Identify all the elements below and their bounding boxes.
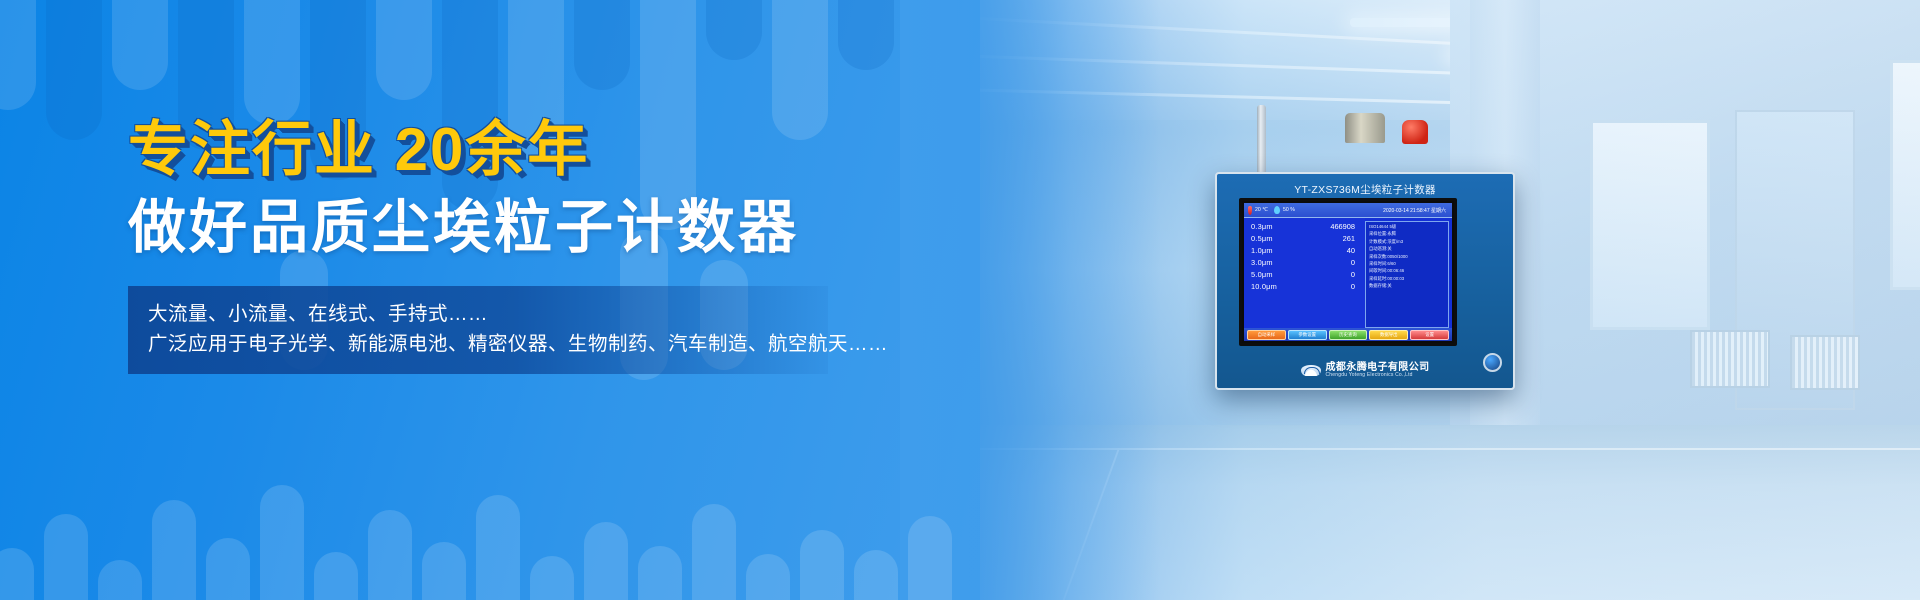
parameter-item: 采样次数:0050/1000 (1369, 254, 1445, 260)
water-drop-icon (1274, 206, 1280, 214)
table-row: 10.0μm 0 (1251, 282, 1361, 292)
history-query-button[interactable]: 历史查询 (1329, 330, 1368, 340)
data-export-button[interactable]: 数据导出 (1369, 330, 1408, 340)
particle-size: 0.5μm (1251, 234, 1297, 244)
particle-count: 40 (1297, 246, 1361, 256)
brand-name-en: Chengdu Yoteng Electronics Co.,Ltd (1326, 373, 1430, 379)
particle-size: 3.0μm (1251, 258, 1297, 268)
auto-sample-button[interactable]: 自动采样 (1247, 330, 1286, 340)
particle-size: 5.0μm (1251, 270, 1297, 280)
particle-size: 10.0μm (1251, 282, 1297, 292)
thermometer-icon (1248, 206, 1252, 215)
datetime-readout: 2020-03-14 21:58:47 星期六 (1383, 207, 1448, 214)
screen-button-row: 自动采样 参数设置 历史查询 数据导出 设置 (1244, 328, 1452, 341)
parameter-item: 数据存储:关 (1369, 283, 1445, 289)
table-row: 1.0μm 40 (1251, 246, 1361, 256)
decorative-bottom-bars (0, 460, 1000, 600)
particle-size: 1.0μm (1251, 246, 1297, 256)
device-branding: 成都永腾电子有限公司 Chengdu Yoteng Electronics Co… (1217, 362, 1513, 379)
parameter-setup-button[interactable]: 参数设置 (1288, 330, 1327, 340)
parameter-panel: ISO14644 5级 采样位置:永腾 计数模式:浓度/m3 自动巡测:关 采样… (1365, 221, 1449, 328)
parameter-item: ISO14644 5级 (1369, 224, 1445, 230)
humidity-readout: 50 % (1274, 206, 1295, 214)
humidity-value: 50 % (1283, 207, 1295, 213)
settings-button[interactable]: 设置 (1410, 330, 1449, 340)
particle-count: 0 (1297, 282, 1361, 292)
particle-count: 261 (1297, 234, 1361, 244)
particle-counter-device: YT-ZXS736M尘埃粒子计数器 20 ℃ 50 % 2020-03-14 2… (1215, 172, 1515, 390)
device-screen[interactable]: 20 ℃ 50 % 2020-03-14 21:58:47 星期六 0.3μm … (1239, 198, 1457, 346)
particle-count: 0 (1297, 270, 1361, 280)
device-model-label: YT-ZXS736M尘埃粒子计数器 (1217, 182, 1513, 197)
temperature-value: 20 ℃ (1255, 207, 1268, 213)
headline-primary: 专注行业 20余年 (128, 118, 888, 181)
parameter-item: 采样延时:00:00:03 (1369, 276, 1445, 282)
table-row: 5.0μm 0 (1251, 270, 1361, 280)
particle-size: 0.3μm (1251, 222, 1297, 232)
description-line-1: 大流量、小流量、在线式、手持式…… (148, 299, 828, 329)
parameter-item: 采样位置:永腾 (1369, 231, 1445, 237)
description-band: 大流量、小流量、在线式、手持式…… 广泛应用于电子光学、新能源电池、精密仪器、生… (128, 286, 828, 374)
alarm-beacon (1402, 120, 1428, 144)
screen-status-bar: 20 ℃ 50 % 2020-03-14 21:58:47 星期六 (1244, 203, 1452, 218)
yoteng-logo-icon (1301, 365, 1321, 376)
table-row: 3.0μm 0 (1251, 258, 1361, 268)
hero-copy: 专注行业 20余年 做好品质尘埃粒子计数器 大流量、小流量、在线式、手持式…… … (128, 118, 888, 374)
sampling-probe (1257, 105, 1266, 175)
particle-count: 0 (1297, 258, 1361, 268)
power-button[interactable] (1483, 353, 1502, 372)
sensor-head (1345, 113, 1385, 143)
parameter-item: 自动巡测:关 (1369, 246, 1445, 252)
table-row: 0.5μm 261 (1251, 234, 1361, 244)
headline-secondary: 做好品质尘埃粒子计数器 (128, 197, 888, 260)
particle-count: 466908 (1297, 222, 1361, 232)
temperature-readout: 20 ℃ (1248, 206, 1268, 215)
parameter-item: 计数模式:浓度/m3 (1369, 239, 1445, 245)
particle-count-table: 0.3μm 466908 0.5μm 261 1.0μm 40 3.0μm (1244, 218, 1365, 328)
hero-banner: 专注行业 20余年 做好品质尘埃粒子计数器 大流量、小流量、在线式、手持式…… … (0, 0, 1920, 600)
parameter-item: 采样时间:6/60 (1369, 261, 1445, 267)
parameter-item: 间歇时间:00:06:46 (1369, 268, 1445, 274)
description-line-2: 广泛应用于电子光学、新能源电池、精密仪器、生物制药、汽车制造、航空航天…… (148, 329, 828, 359)
table-row: 0.3μm 466908 (1251, 222, 1361, 232)
